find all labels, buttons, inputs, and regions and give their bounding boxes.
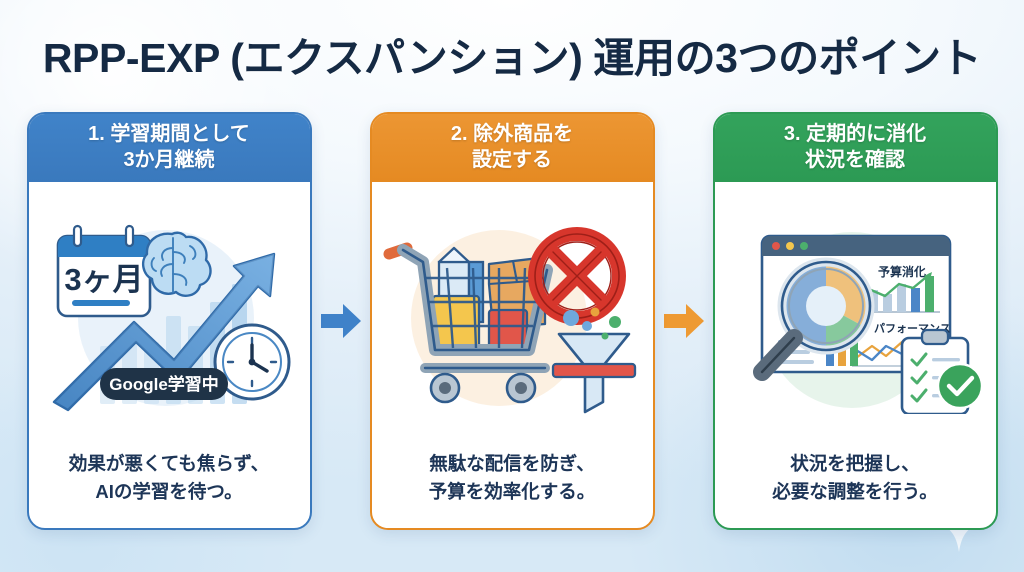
card-2-caption-line-1: 無駄な配信を防ぎ、	[386, 450, 639, 478]
card-1-caption: 効果が悪くても焦らず、 AIの学習を待つ。	[29, 446, 310, 528]
card-1-header: 1. 学習期間として 3か月継続	[29, 114, 310, 182]
card-2-header: 2. 除外商品を 設定する	[372, 114, 653, 182]
learning-badge-label: Google学習中	[109, 374, 219, 394]
card-1-caption-line-2: AIの学習を待つ。	[43, 478, 296, 506]
card-1-caption-line-1: 効果が悪くても焦らず、	[43, 450, 296, 478]
infographic-canvas: RPP-EXP (エクスパンション) 運用の3つのポイント 1. 学習期間として…	[0, 0, 1024, 572]
card-3-illustration: 予算消化 パフォーマン	[715, 182, 996, 446]
page-title: RPP-EXP (エクスパンション) 運用の3つのポイント	[0, 24, 1024, 84]
shopping-cart-exclusion-illustration	[381, 218, 643, 414]
card-3-header: 3. 定期的に消化 状況を確認	[715, 114, 996, 182]
card-step-1[interactable]: 1. 学習期間として 3か月継続	[27, 112, 312, 530]
growth-chart-illustration: 3ヶ月	[38, 218, 300, 414]
card-1-header-line-2: 3か月継続	[123, 148, 214, 174]
dashboard-monitoring-illustration: 予算消化 パフォーマン	[724, 218, 986, 414]
connector-1	[312, 112, 370, 530]
window-dot-red	[772, 242, 780, 250]
card-1-header-line-1: 1. 学習期間として	[88, 122, 250, 148]
card-3-caption-line-2: 必要な調整を行う。	[729, 478, 982, 506]
card-3-caption: 状況を把握し、 必要な調整を行う。	[715, 446, 996, 528]
card-2-caption: 無駄な配信を防ぎ、 予算を効率化する。	[372, 446, 653, 528]
window-dot-yellow	[786, 242, 794, 250]
learning-badge: Google学習中	[100, 368, 228, 400]
calendar-label: 3ヶ月	[64, 262, 143, 297]
card-2-header-line-2: 設定する	[472, 148, 552, 174]
arrow-card1-to-card2	[321, 302, 361, 340]
card-2-caption-line-2: 予算を効率化する。	[386, 478, 639, 506]
calendar-icon: 3ヶ月	[58, 226, 150, 316]
card-3-header-line-2: 状況を確認	[805, 148, 905, 174]
budget-chart-label: 予算消化	[878, 264, 926, 279]
connector-2	[655, 112, 713, 530]
window-dot-green	[800, 242, 808, 250]
cards-row: 1. 学習期間として 3か月継続	[0, 112, 1024, 532]
card-step-3[interactable]: 3. 定期的に消化 状況を確認 予算消化	[713, 112, 998, 530]
card-1-illustration: 3ヶ月	[29, 182, 310, 446]
card-2-header-line-1: 2. 除外商品を	[451, 122, 573, 148]
card-2-illustration	[372, 182, 653, 446]
brain-icon	[143, 233, 210, 296]
card-3-caption-line-1: 状況を把握し、	[729, 450, 982, 478]
card-step-2[interactable]: 2. 除外商品を 設定する	[370, 112, 655, 530]
card-3-header-line-1: 3. 定期的に消化	[784, 122, 926, 148]
check-circle-icon	[938, 364, 982, 408]
arrow-card2-to-card3	[664, 302, 704, 340]
